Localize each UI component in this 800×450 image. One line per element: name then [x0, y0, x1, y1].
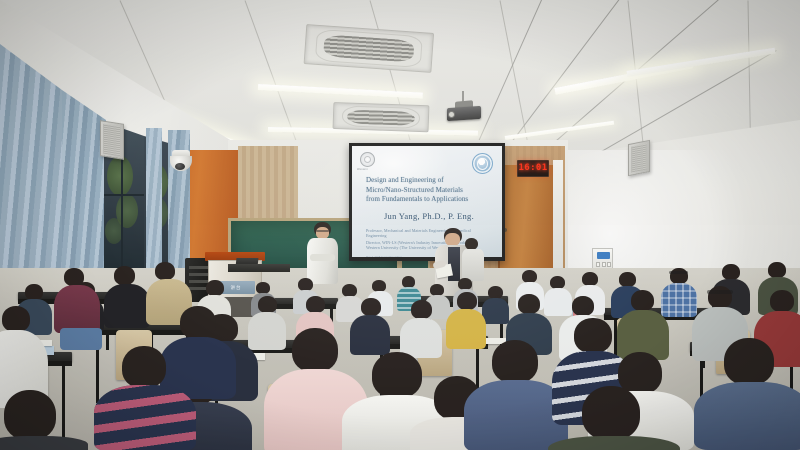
slide-title-line-1: Design and Engineering of: [366, 176, 492, 186]
light-switch[interactable]: [596, 262, 600, 267]
glasses-icon: [707, 290, 733, 294]
slide-title-line-3: from Fundamentals to Applications: [366, 195, 492, 205]
digital-wall-clock: 16:01: [517, 160, 549, 177]
light-switch[interactable]: [602, 262, 606, 267]
slide-author: Jun Yang, Ph.D., P. Eng.: [366, 210, 492, 222]
slide-title-line-2: Micro/Nano-Structured Materials: [366, 186, 492, 196]
university-crest-logo: [472, 153, 493, 174]
projection-screen: Western Design and Engineering of Micro/…: [352, 146, 502, 257]
clock-time-display: 16:01: [518, 164, 547, 173]
attendee-jeans: [60, 328, 102, 350]
front-table: [228, 264, 290, 272]
crossed-arms: [310, 254, 335, 261]
ceiling-projector: [447, 101, 481, 121]
wall-control-panel[interactable]: [592, 248, 613, 270]
glasses-icon: [316, 230, 329, 232]
control-panel-label: [597, 252, 610, 259]
dome-security-camera: [170, 150, 192, 176]
lecture-hall-photo: Western Design and Engineering of Micro/…: [0, 0, 800, 450]
shirt-stripes: [94, 385, 196, 450]
curtain-window-right: [146, 128, 162, 280]
western-university-logo: [360, 152, 375, 167]
glasses-icon: [669, 271, 688, 274]
classroom-door[interactable]: [498, 165, 556, 283]
wall-speaker-left: [100, 120, 124, 160]
projection-screen-frame: Western Design and Engineering of Micro/…: [349, 143, 505, 261]
wall-speaker-right: [628, 140, 650, 176]
ceiling-ac-vent: [333, 102, 430, 132]
light-switch[interactable]: [607, 262, 611, 267]
slide-logo-caption: Western: [357, 168, 368, 171]
